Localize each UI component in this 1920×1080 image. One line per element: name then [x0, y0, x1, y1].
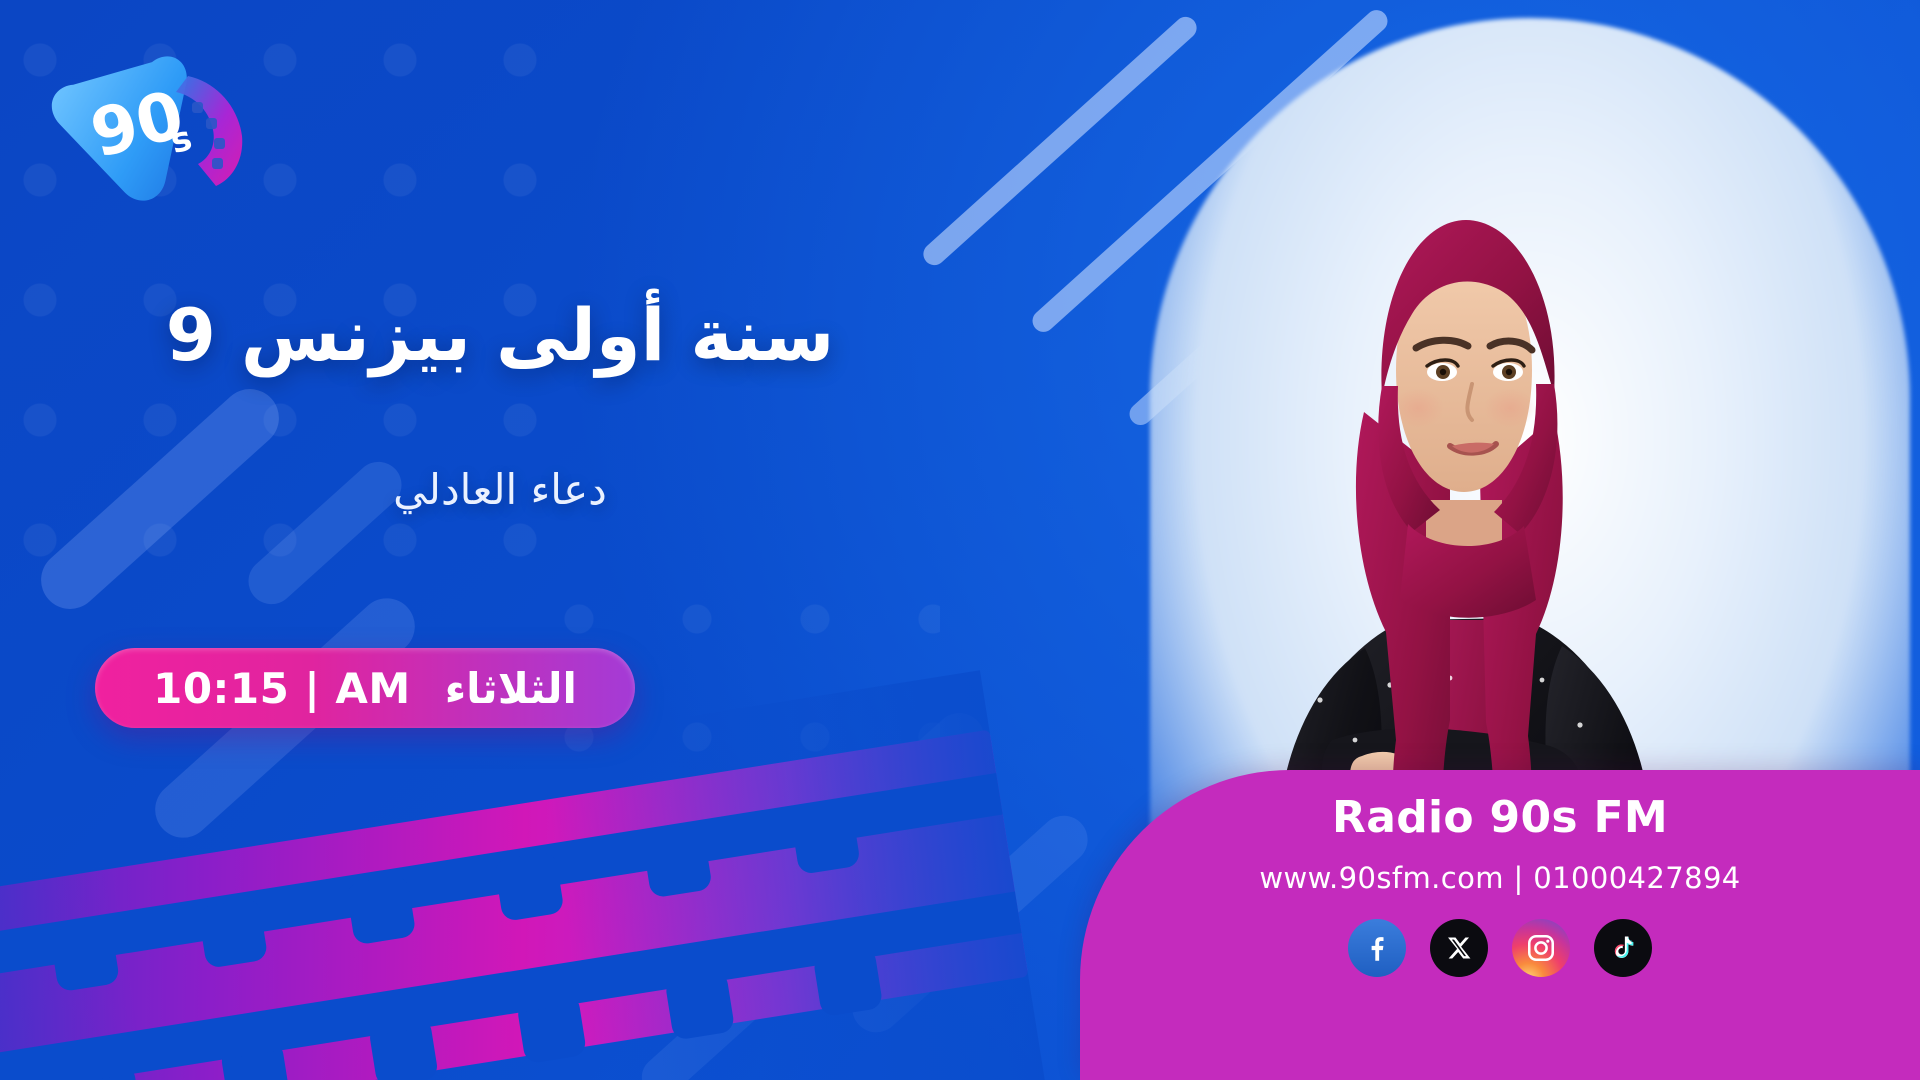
social-link-x[interactable]	[1430, 919, 1488, 977]
film-perforation	[494, 851, 565, 922]
film-perforation	[790, 804, 861, 875]
schedule-time: 10:15 | AM	[153, 664, 411, 713]
social-link-tiktok[interactable]	[1594, 919, 1652, 977]
radio-90s-logo[interactable]: 90 s	[38, 48, 268, 208]
film-perforation	[346, 874, 417, 945]
film-perforation	[664, 970, 735, 1041]
diagonal-bar-5	[842, 806, 1097, 1042]
film-strip-graphic	[0, 670, 1046, 1080]
film-perforation	[220, 1040, 291, 1080]
facebook-icon	[1360, 931, 1394, 965]
instagram-icon	[1525, 932, 1557, 964]
station-name: Radio 90s FM	[1332, 792, 1668, 843]
program-card: 90 s سنة أولى بيزنس 9 دعاء العادلي الثلا…	[0, 0, 1920, 1080]
film-perforation	[368, 1017, 439, 1080]
film-perforation	[49, 921, 120, 992]
film-strip-band	[0, 730, 1028, 1080]
film-perforation	[813, 946, 884, 1017]
social-link-instagram[interactable]	[1512, 919, 1570, 977]
schedule-day: الثلاثاء	[445, 664, 577, 713]
station-info-panel: Radio 90s FM www.90sfm.com | 01000427894	[1080, 770, 1920, 1080]
film-strip-fade	[0, 670, 1046, 1080]
x-twitter-icon	[1445, 934, 1473, 962]
film-perforation	[197, 898, 268, 969]
film-perforation	[72, 1064, 143, 1080]
social-links	[1348, 919, 1652, 977]
dot-pattern-mid	[520, 560, 940, 980]
schedule-badge[interactable]: الثلاثاء 10:15 | AM	[95, 648, 635, 728]
social-link-facebook[interactable]	[1348, 919, 1406, 977]
diagonal-bar-4	[775, 703, 994, 907]
film-perforation	[516, 993, 587, 1064]
program-title: سنة أولى بيزنس 9	[0, 295, 1000, 376]
station-contact: www.90sfm.com | 01000427894	[1259, 861, 1740, 895]
tiktok-icon	[1608, 933, 1638, 963]
film-perforation	[642, 828, 713, 899]
diagonal-bar-6	[634, 935, 817, 1080]
program-host-name: دعاء العادلي	[0, 465, 1000, 514]
